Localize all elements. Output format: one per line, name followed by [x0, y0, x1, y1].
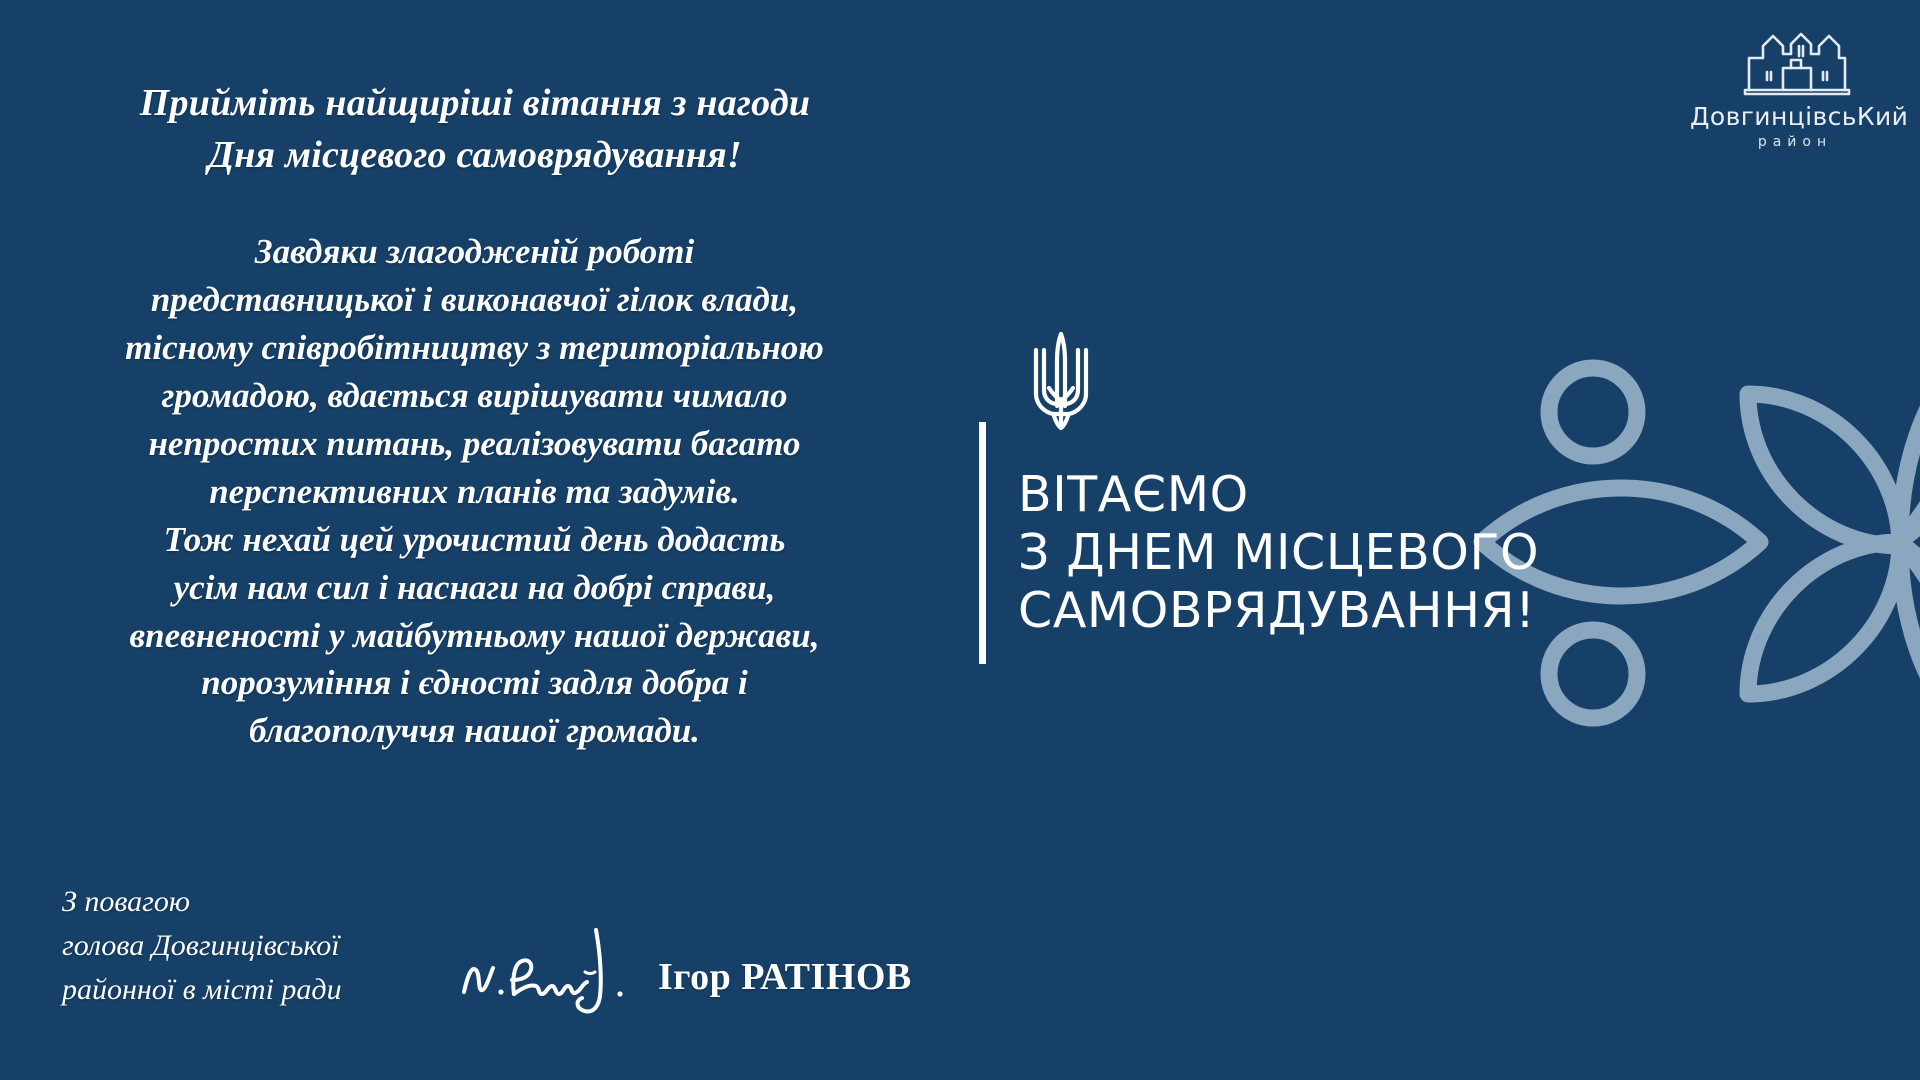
signature-role-lines: З повагою голова Довгинцівської районної…	[62, 880, 342, 1011]
ukraine-tryzub-icon	[1022, 328, 1100, 432]
greeting-card: Прийміть найщиріші вітання з нагоди Дня …	[0, 0, 1920, 1080]
vertical-divider	[979, 422, 986, 664]
logo-district-subtitle: район	[1690, 134, 1900, 150]
handwritten-signature-icon	[454, 922, 644, 1022]
signature-block: З повагою голова Довгинцівської районної…	[62, 880, 942, 1040]
greeting-body: Завдяки злагодженій роботі представницьк…	[52, 228, 897, 755]
headline-text: ВІТАЄМО З ДНЕМ МІСЦЕВОГО САМОВРЯДУВАННЯ!	[1018, 466, 1718, 639]
district-logo: ДовгинцівсьКий район	[1690, 32, 1900, 164]
signatory-name: Ігор РАТІНОВ	[658, 955, 912, 999]
castle-fortress-icon	[1733, 32, 1857, 96]
logo-district-name: ДовгинцівсьКий	[1690, 102, 1900, 131]
left-text-column: Прийміть найщиріші вітання з нагоди Дня …	[0, 0, 950, 1080]
greeting-title: Прийміть найщиріші вітання з нагоди Дня …	[60, 78, 890, 181]
